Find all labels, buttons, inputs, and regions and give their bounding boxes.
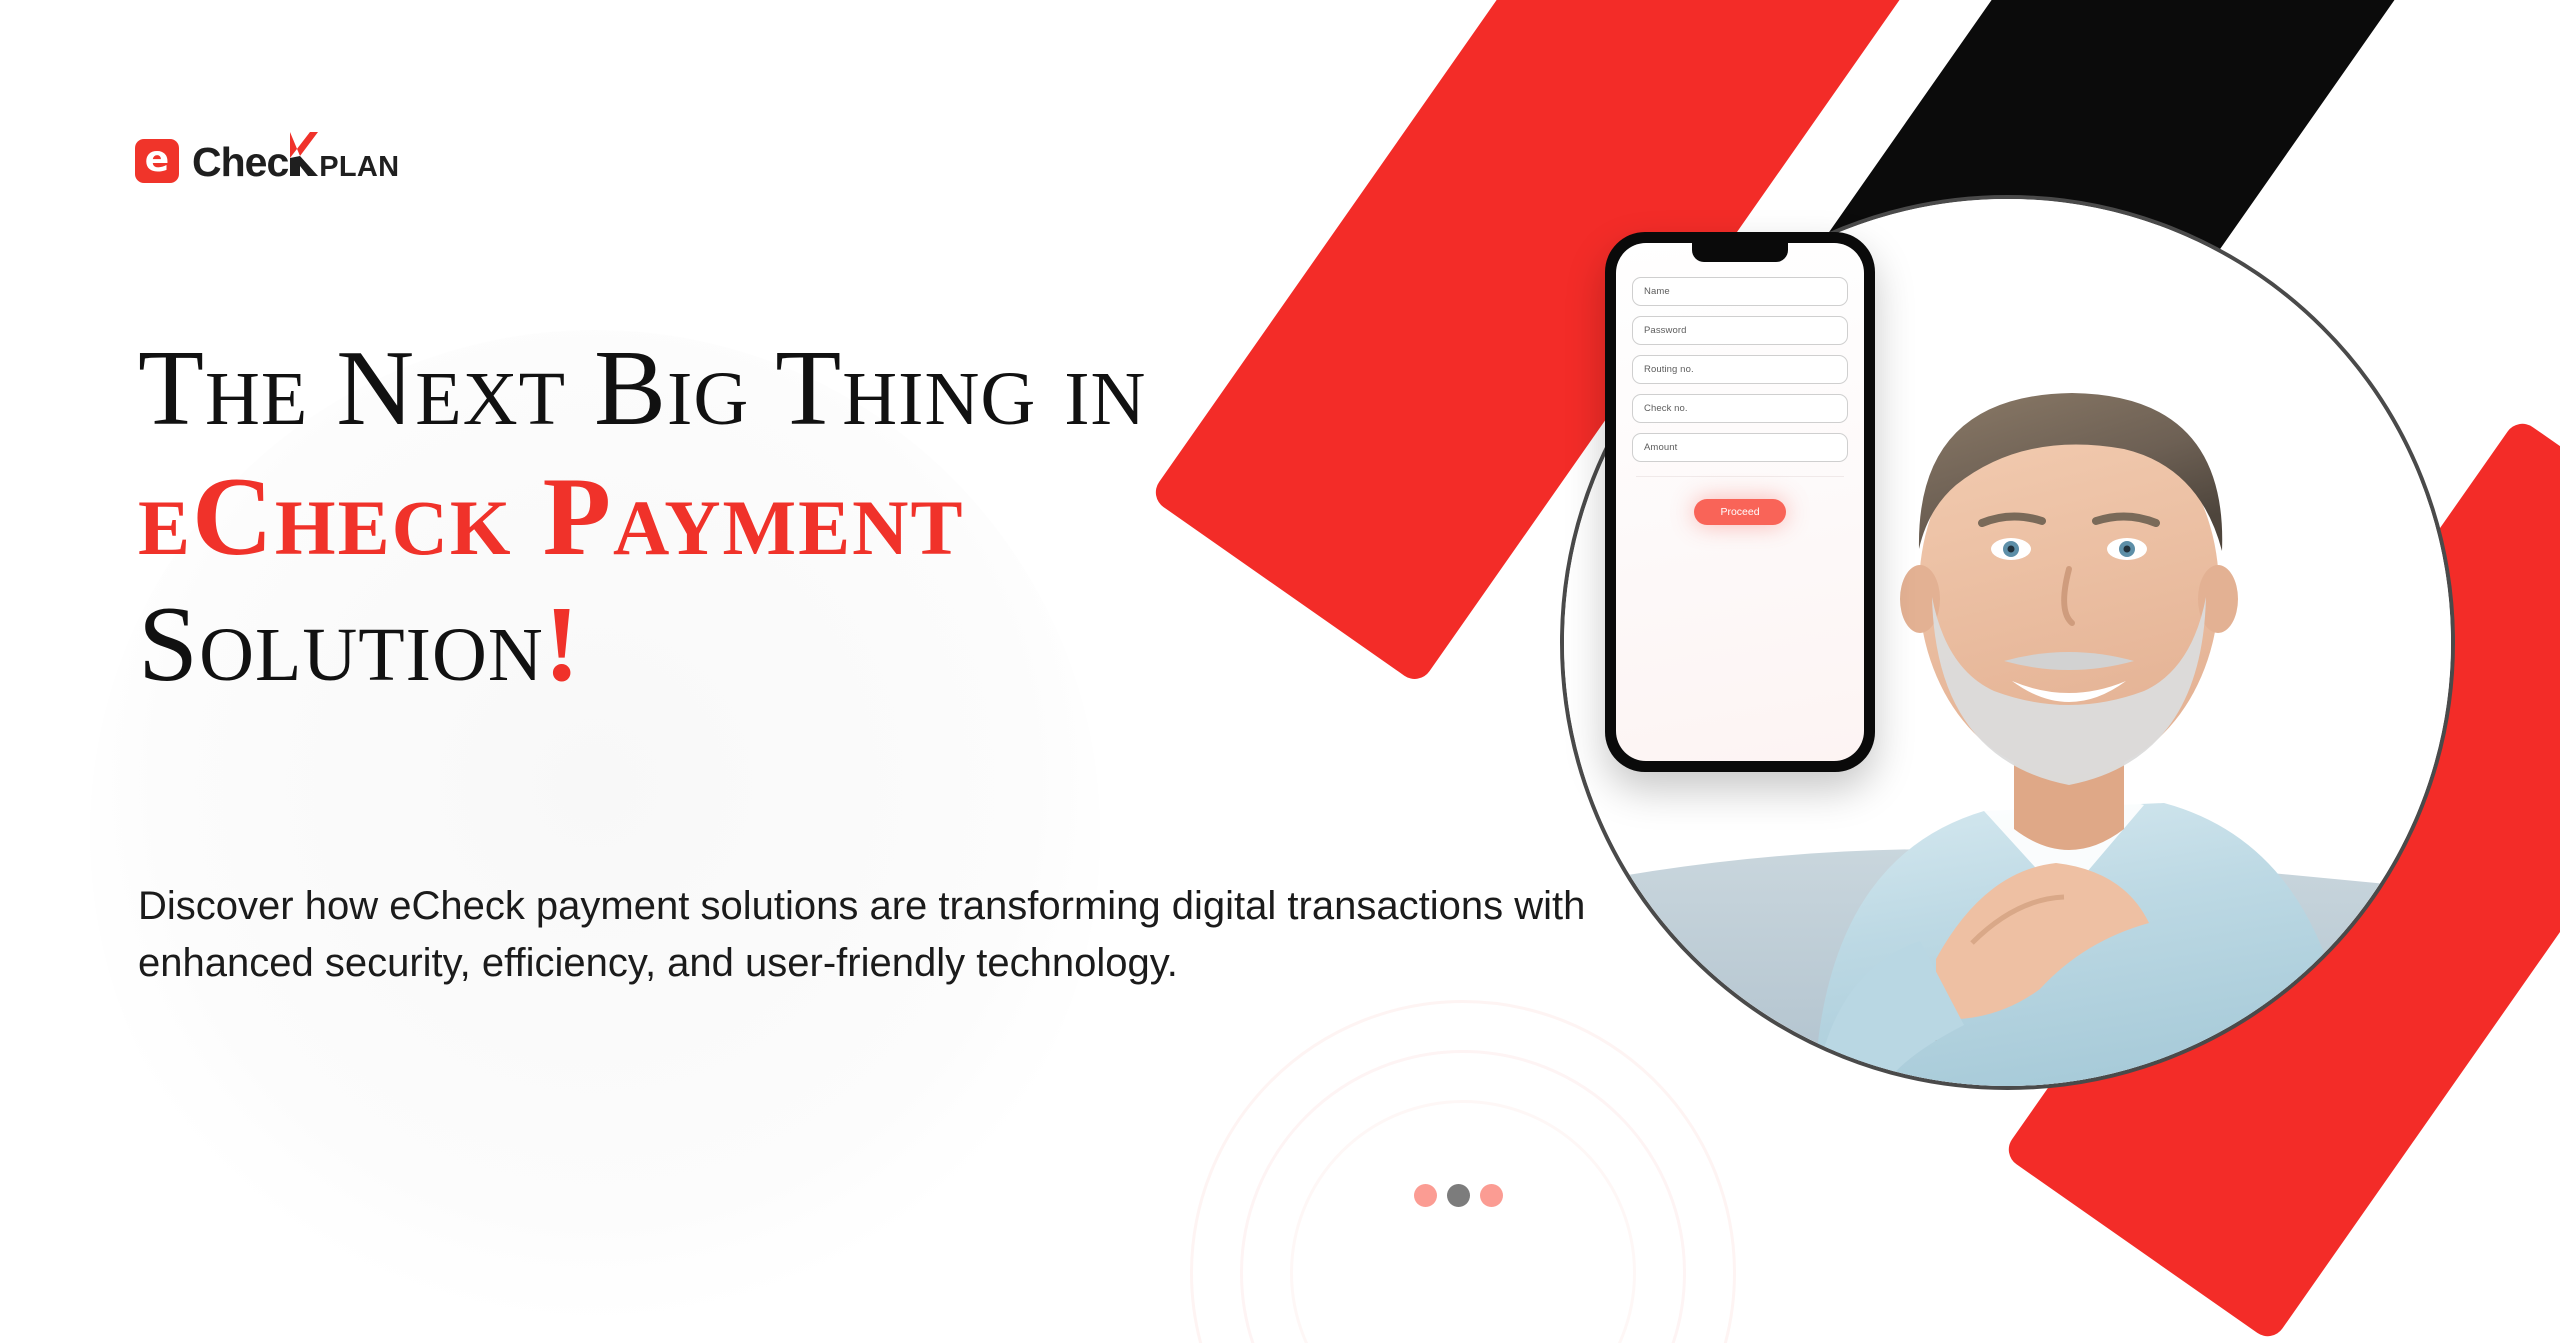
check-number-field[interactable]: Check no. bbox=[1632, 394, 1848, 423]
form-divider bbox=[1636, 476, 1844, 477]
carousel-dot-1[interactable] bbox=[1414, 1184, 1437, 1207]
phone-screen: Name Password Routing no. Check no. Amou… bbox=[1616, 243, 1864, 761]
password-field[interactable]: Password bbox=[1632, 316, 1848, 345]
hero-subcopy: Discover how eCheck payment solutions ar… bbox=[138, 878, 1598, 992]
logo-wordmark: Chec PLAN bbox=[192, 132, 399, 189]
routing-number-field-label: Routing no. bbox=[1644, 364, 1694, 375]
password-field-label: Password bbox=[1644, 325, 1687, 336]
name-field[interactable]: Name bbox=[1632, 277, 1848, 306]
check-number-field-label: Check no. bbox=[1644, 403, 1688, 414]
logo-k-icon bbox=[288, 132, 318, 176]
logo-word-plan: PLAN bbox=[319, 145, 399, 189]
headline-line-2: eCheck Payment bbox=[138, 461, 1558, 573]
headline-line-1: The Next Big Thing in bbox=[138, 335, 1558, 443]
amount-field-label: Amount bbox=[1644, 442, 1677, 453]
hero-banner: Name Password Routing no. Check no. Amou… bbox=[0, 0, 2560, 1343]
phone-notch bbox=[1692, 243, 1788, 262]
ring-watermark-inner bbox=[1290, 1100, 1636, 1343]
proceed-button-row: Proceed bbox=[1632, 499, 1848, 525]
hero-headline: The Next Big Thing in eCheck Payment Sol… bbox=[138, 335, 1558, 699]
carousel-dot-2-active[interactable] bbox=[1447, 1184, 1470, 1207]
carousel-dots[interactable] bbox=[1414, 1184, 1503, 1207]
headline-line-3-text: Solution bbox=[138, 585, 544, 704]
logo-e-mark: e bbox=[135, 139, 179, 183]
brand-logo[interactable]: e Chec PLAN bbox=[135, 132, 399, 189]
logo-word-chec: Chec bbox=[192, 140, 288, 184]
headline-line-3: Solution! bbox=[138, 591, 1558, 699]
name-field-label: Name bbox=[1644, 286, 1670, 297]
proceed-button[interactable]: Proceed bbox=[1694, 499, 1785, 525]
phone-mockup: Name Password Routing no. Check no. Amou… bbox=[1605, 232, 1875, 772]
amount-field[interactable]: Amount bbox=[1632, 433, 1848, 462]
carousel-dot-3[interactable] bbox=[1480, 1184, 1503, 1207]
routing-number-field[interactable]: Routing no. bbox=[1632, 355, 1848, 384]
headline-exclamation: ! bbox=[544, 585, 581, 704]
